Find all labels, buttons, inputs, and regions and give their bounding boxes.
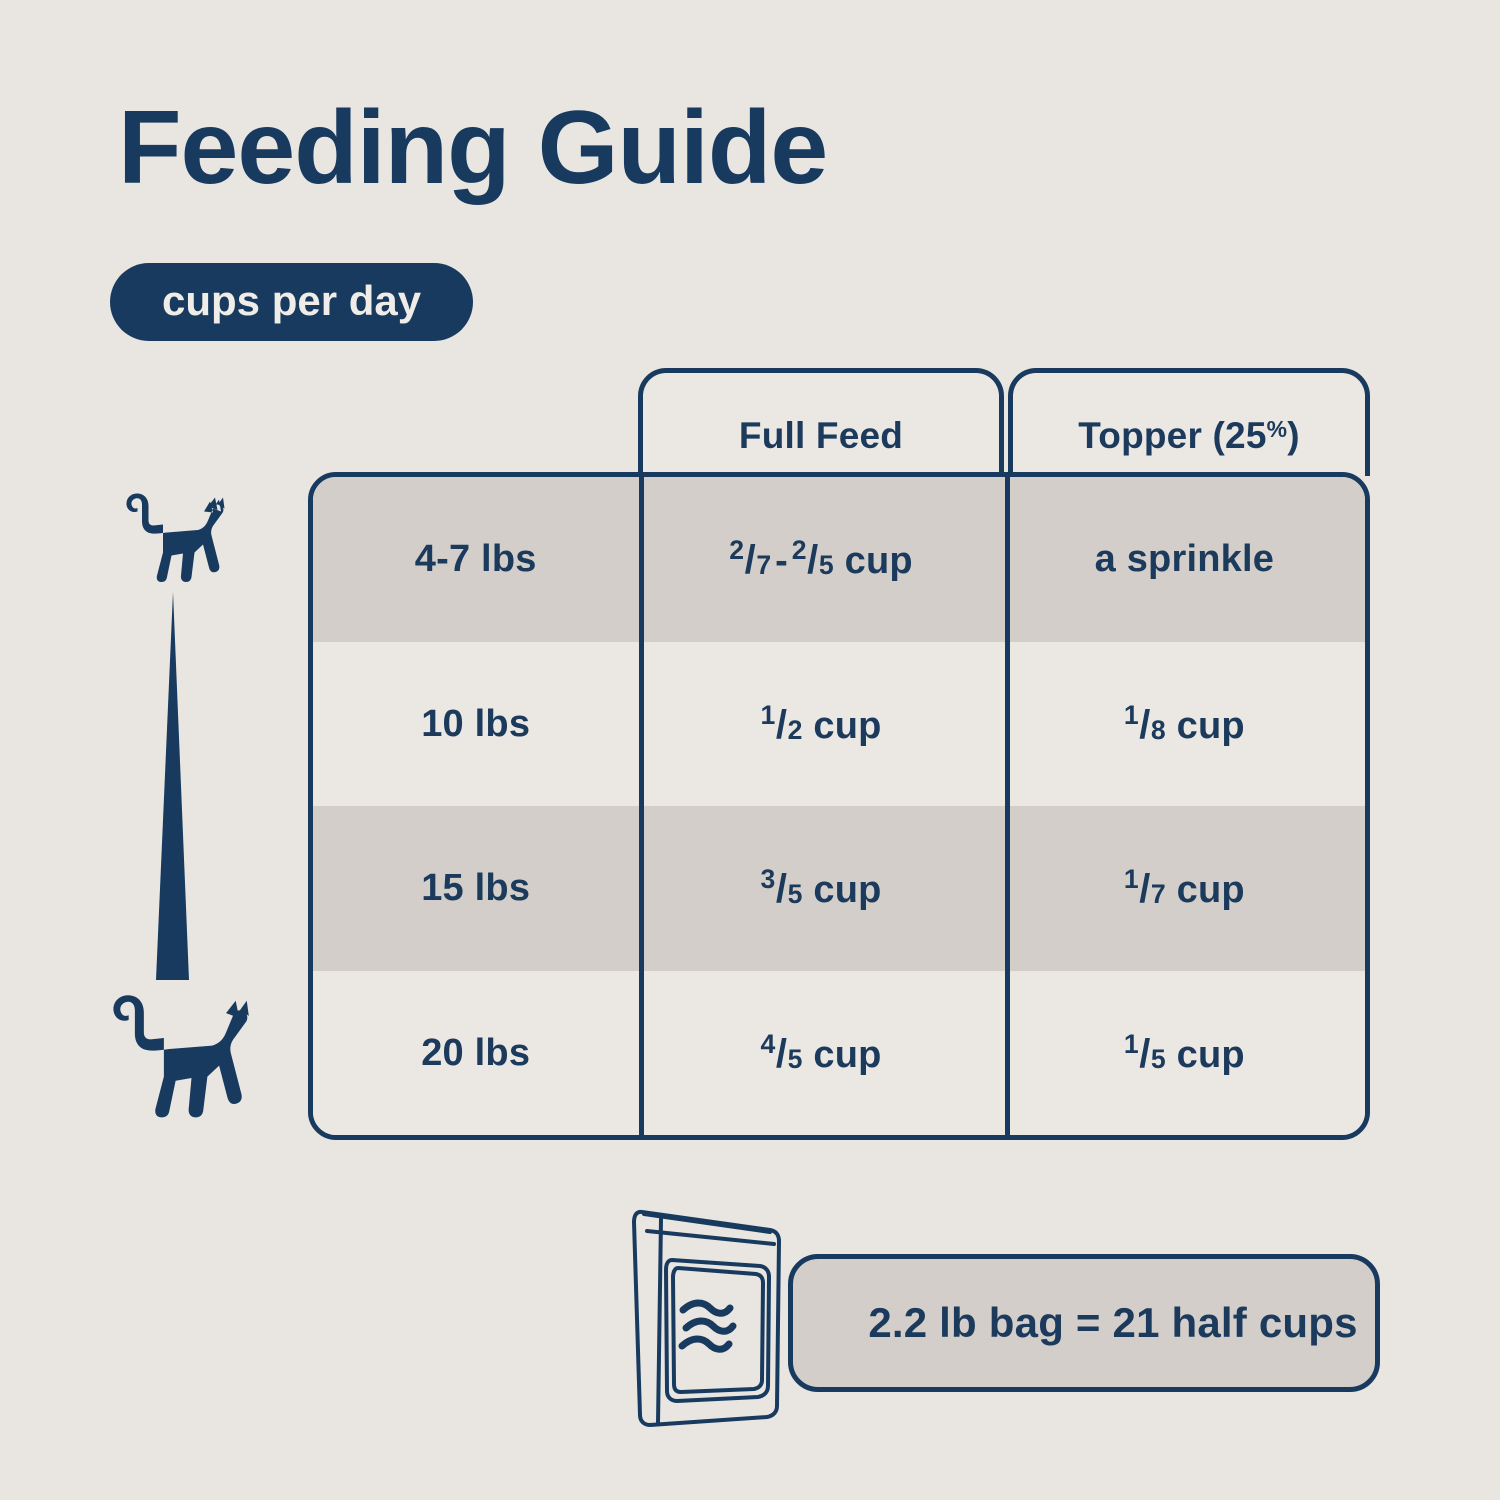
table-row: 10 lbs 1/2 cup 1/8 cup	[313, 642, 1365, 807]
cell-topper: a sprinkle	[1004, 477, 1365, 642]
table-row: 15 lbs 3/5 cup 1/7 cup	[313, 806, 1365, 971]
cell-weight: 15 lbs	[313, 806, 638, 971]
cell-topper: 1/5 cup	[1004, 971, 1365, 1136]
cell-topper: 1/8 cup	[1004, 642, 1365, 807]
cell-weight: 4-7 lbs	[313, 477, 638, 642]
food-bag-icon	[620, 1192, 800, 1432]
bag-yield-callout: 2.2 lb bag = 21 half cups	[620, 1192, 1380, 1432]
cups-per-day-badge: cups per day	[110, 263, 473, 341]
cell-weight: 20 lbs	[313, 971, 638, 1136]
cell-weight: 10 lbs	[313, 642, 638, 807]
cat-walking-icon-large	[82, 980, 272, 1125]
cell-topper: 1/7 cup	[1004, 806, 1365, 971]
size-scale-wedge-icon	[148, 592, 196, 980]
percent-superscript: %	[1267, 416, 1288, 442]
column-header-topper: Topper (25%)	[1008, 368, 1370, 476]
table-body: 4-7 lbs 2/7-2/5 cup a sprinkle 10 lbs 1/…	[308, 472, 1370, 1140]
column-header-label: Topper (25%)	[1078, 393, 1300, 457]
badge-label: cups per day	[162, 280, 421, 325]
table-row: 20 lbs 4/5 cup 1/5 cup	[313, 971, 1365, 1136]
bag-yield-banner: 2.2 lb bag = 21 half cups	[788, 1254, 1380, 1392]
cell-full-feed: 2/7-2/5 cup	[638, 477, 1003, 642]
page-title: Feeding Guide	[118, 96, 827, 200]
cat-walking-icon-small	[115, 480, 230, 590]
bag-yield-text: 2.2 lb bag = 21 half cups	[810, 1302, 1357, 1344]
column-header-label: Full Feed	[739, 393, 903, 457]
column-divider	[639, 477, 644, 1135]
feeding-guide-page: Feeding Guide cups per day	[0, 0, 1500, 1500]
table-row: 4-7 lbs 2/7-2/5 cup a sprinkle	[313, 477, 1365, 642]
cat-size-scale	[70, 470, 295, 1140]
column-divider	[1005, 477, 1010, 1135]
cell-full-feed: 3/5 cup	[638, 806, 1003, 971]
column-header-full-feed: Full Feed	[638, 368, 1004, 476]
cell-full-feed: 1/2 cup	[638, 642, 1003, 807]
table-header-row: Full Feed Topper (25%)	[308, 368, 1370, 476]
feeding-table: Full Feed Topper (25%) 4-7 lbs 2/7-2/5 c…	[308, 368, 1370, 1140]
cell-full-feed: 4/5 cup	[638, 971, 1003, 1136]
